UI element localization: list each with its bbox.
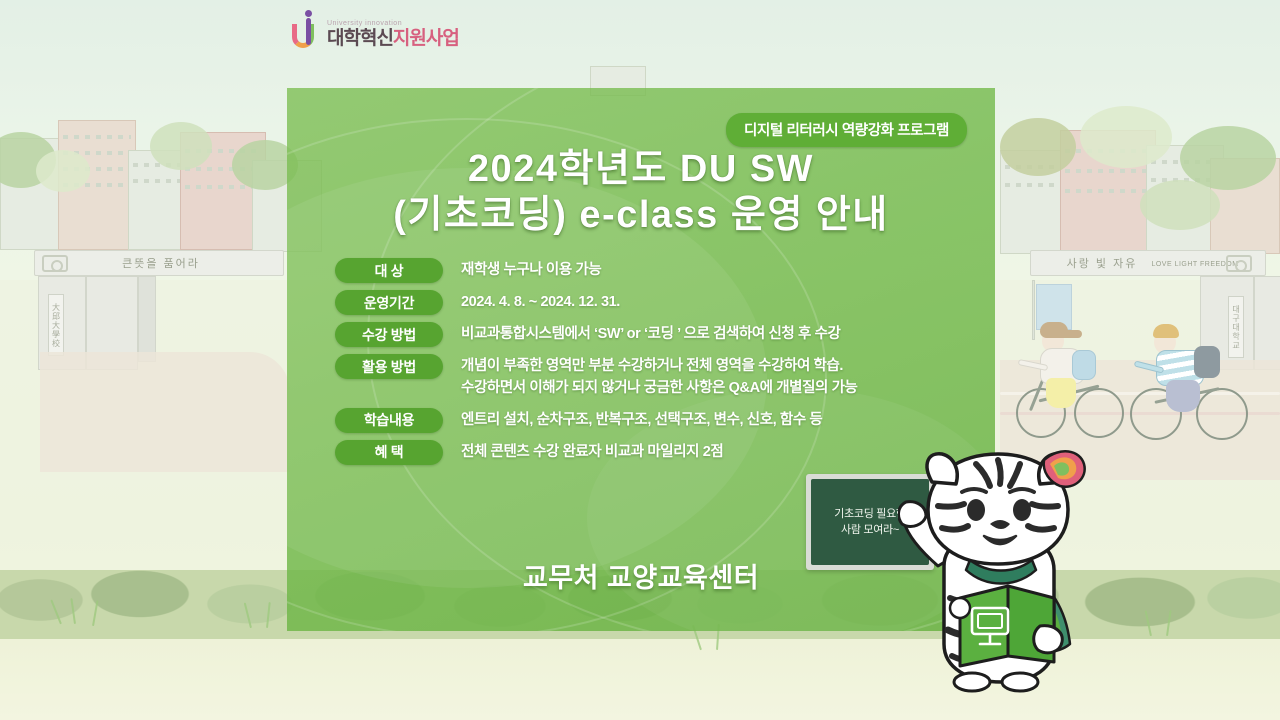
logo-text: University innovation 대학혁신지원사업 [327, 20, 459, 48]
info-row-value: 개념이 부족한 영역만 부분 수강하거나 전체 영역을 수강하여 학습. 수강하… [461, 354, 858, 400]
info-row-value-line1: 2024. 4. 8. ~ 2024. 12. 31. [461, 294, 620, 310]
info-row-value-line1: 개념이 부족한 영역만 부분 수강하거나 전체 영역을 수강하여 학습. [461, 358, 843, 374]
cyclist-backpack [1072, 350, 1096, 380]
tiger-mascot [898, 448, 1113, 693]
info-row-label: 혜 택 [335, 440, 443, 465]
info-row-value: 전체 콘텐츠 수강 완료자 비교과 마일리지 2점 [461, 440, 723, 464]
tree-foliage [1180, 126, 1276, 190]
info-row: 대 상 재학생 누구나 이용 가능 [335, 258, 975, 283]
info-row-value-line1: 엔트리 설치, 순차구조, 반복구조, 선택구조, 변수, 신호, 함수 등 [461, 412, 822, 428]
left-gate-sign: 큰뜻을 품어라 [86, 251, 236, 275]
tree-foliage [1140, 180, 1220, 230]
info-row-label: 학습내용 [335, 408, 443, 433]
cyclist-legs [1046, 378, 1076, 408]
info-row: 혜 택 전체 콘텐츠 수강 완료자 비교과 마일리지 2점 [335, 440, 975, 465]
cyclist-hair [1153, 324, 1179, 338]
info-row-value-line1: 전체 콘텐츠 수강 완료자 비교과 마일리지 2점 [461, 444, 723, 460]
cyclist-legs [1166, 380, 1200, 412]
logo-english-label: University innovation [327, 20, 459, 27]
info-row-value-line2: 수강하면서 이해가 되지 않거나 궁금한 사항은 Q&A에 개별질의 가능 [461, 378, 858, 400]
info-row: 운영기간 2024. 4. 8. ~ 2024. 12. 31. [335, 290, 975, 315]
poster-root: 큰뜻을 품어라 大邱大學校 사랑 빛 자유 LOVE LIGHT FREEDOM… [0, 0, 1280, 720]
info-rows: 대 상 재학생 누구나 이용 가능 운영기간 2024. 4. 8. ~ 202… [335, 258, 975, 472]
info-row-value: 엔트리 설치, 순차구조, 반복구조, 선택구조, 변수, 신호, 함수 등 [461, 408, 822, 432]
cyclist-figure [1128, 318, 1258, 450]
right-gate-sign-kr: 사랑 빛 자유 [1066, 251, 1138, 275]
bicycle-wheel [1074, 388, 1124, 438]
chalkboard-line-2: 사람 모여라~ [841, 522, 899, 539]
cyclist-figure [1012, 318, 1132, 448]
logo-korean-accent: 지원사업 [393, 28, 459, 49]
logo-korean-dark: 대학혁신 [327, 28, 393, 49]
plaza-path [40, 352, 290, 472]
tree-foliage [150, 122, 212, 170]
info-row-label: 운영기간 [335, 290, 443, 315]
info-row: 수강 방법 비교과통합시스템에서 ‘SW’ or ‘코딩 ’ 으로 검색하여 신… [335, 322, 975, 347]
logo-korean-label: 대학혁신지원사업 [327, 29, 459, 48]
mascot-book [960, 586, 1008, 666]
mascot-eye [967, 499, 985, 521]
program-badge: 디지털 리터러시 역량강화 프로그램 [726, 113, 967, 147]
title-line-1: 2024학년도 DU SW [287, 146, 995, 192]
info-row-value-line1: 비교과통합시스템에서 ‘SW’ or ‘코딩 ’ 으로 검색하여 신청 후 수강 [461, 326, 840, 342]
info-row-value: 재학생 누구나 이용 가능 [461, 258, 601, 282]
mascot-head-stripe [998, 460, 1001, 484]
info-row-label: 대 상 [335, 258, 443, 283]
mascot-head-stripe [1032, 504, 1058, 507]
tree-foliage [1080, 106, 1172, 168]
mascot-foot [1002, 673, 1038, 691]
cyclist-hair [1062, 330, 1082, 338]
poster-title: 2024학년도 DU SW (기초코딩) e-class 운영 안내 [287, 146, 995, 239]
info-row-value-line1: 재학생 누구나 이용 가능 [461, 262, 601, 278]
cyclist-backpack [1194, 346, 1220, 378]
info-row-label: 수강 방법 [335, 322, 443, 347]
tree-foliage [36, 150, 90, 192]
mascot-ear [927, 454, 957, 484]
university-innovation-logo: University innovation 대학혁신지원사업 [292, 14, 459, 48]
mascot-eye [1013, 499, 1031, 521]
info-row-label: 활용 방법 [335, 354, 443, 379]
mascot-foot [954, 673, 990, 691]
title-line-2: (기초코딩) e-class 운영 안내 [287, 192, 995, 238]
info-row-value: 비교과통합시스템에서 ‘SW’ or ‘코딩 ’ 으로 검색하여 신청 후 수강 [461, 322, 840, 346]
bicycle-wheel [1196, 388, 1248, 440]
left-gate-plate: 大邱大學校 [48, 294, 64, 356]
info-row-value: 2024. 4. 8. ~ 2024. 12. 31. [461, 290, 620, 314]
info-row: 학습내용 엔트리 설치, 순차구조, 반복구조, 선택구조, 변수, 신호, 함… [335, 408, 975, 433]
tree-foliage [1000, 118, 1076, 176]
info-row: 활용 방법 개념이 부족한 영역만 부분 수강하거나 전체 영역을 수강하여 학… [335, 354, 975, 400]
mascot-right-paw [1034, 626, 1063, 653]
mascot-medal [950, 598, 970, 618]
logo-mark-icon [292, 14, 322, 48]
mascot-head-stripe [938, 504, 964, 507]
mascot-left-paw [899, 502, 926, 527]
chalkboard-line-1: 기초코딩 필요한 [834, 506, 906, 523]
